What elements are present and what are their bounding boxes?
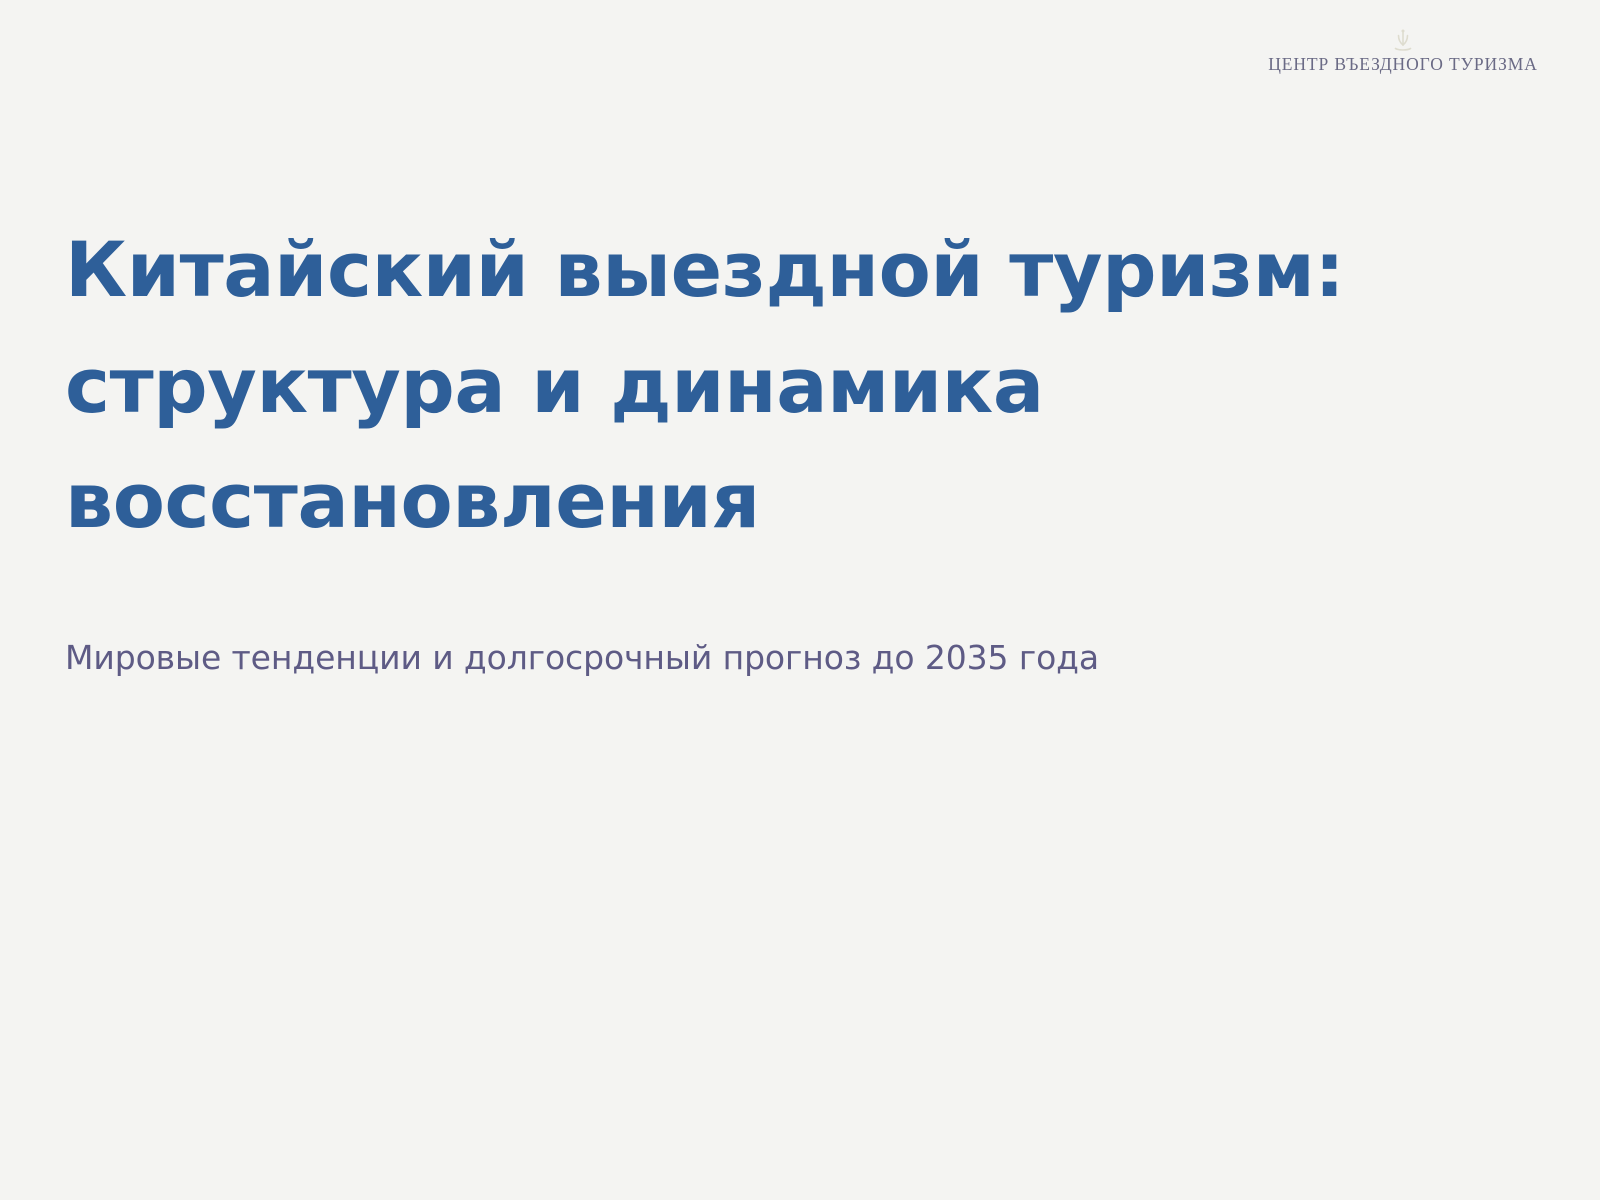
- title-heading: Китайский выездной туризм: структура и д…: [65, 212, 1445, 559]
- title-line-1: Китайский выездной туризм:: [65, 212, 1445, 328]
- page-subtitle: Мировые тенденции и долгосрочный прогноз…: [65, 636, 1099, 681]
- brand-logo: ЦЕНТР ВЪЕЗДНОГО ТУРИЗМА: [1268, 28, 1538, 74]
- stylized-figure-mark-icon: [1386, 28, 1420, 54]
- title-line-2: структура и динамика: [65, 328, 1445, 444]
- brand-logo-text: ЦЕНТР ВЪЕЗДНОГО ТУРИЗМА: [1268, 55, 1538, 74]
- title-slide: ЦЕНТР ВЪЕЗДНОГО ТУРИЗМА Китайский выездн…: [0, 0, 1600, 1200]
- title-line-3: восстановления: [65, 443, 1445, 559]
- page-title: Китайский выездной туризм: структура и д…: [65, 212, 1445, 559]
